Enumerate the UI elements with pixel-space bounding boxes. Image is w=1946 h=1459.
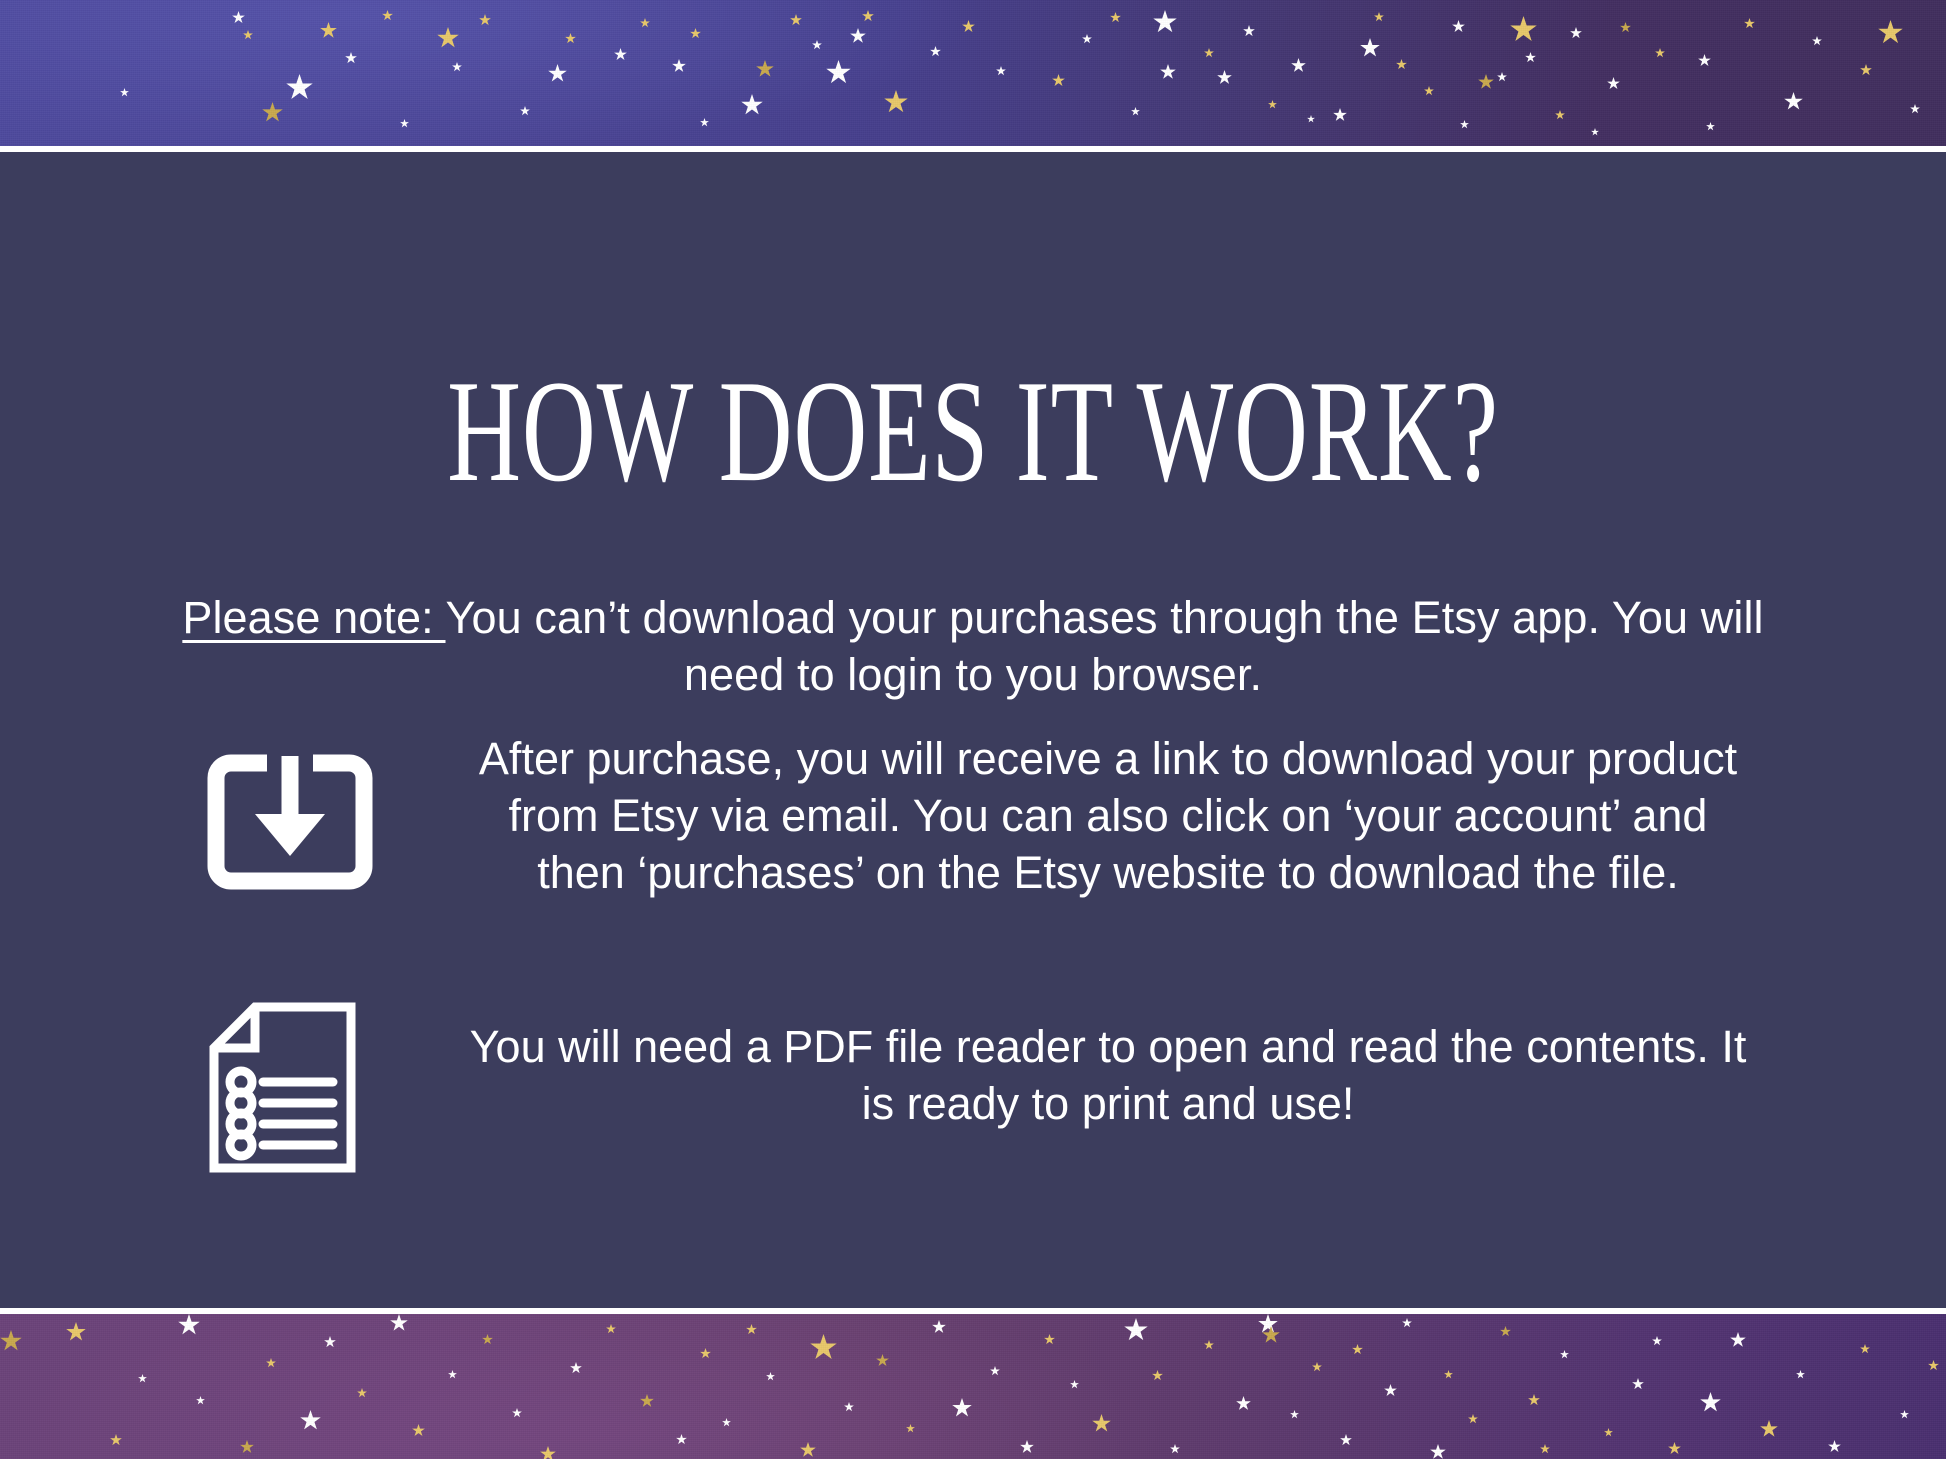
star-icon	[110, 1434, 122, 1446]
star-icon	[1500, 1326, 1511, 1337]
download-icon	[205, 752, 405, 892]
star-icon	[324, 1336, 336, 1348]
star-icon	[1291, 58, 1306, 73]
star-icon	[676, 1434, 687, 1445]
star-icon	[990, 1366, 1000, 1376]
info-row-pdf: You will need a PDF file reader to open …	[205, 990, 1765, 1175]
star-icon	[1784, 92, 1803, 111]
star-icon	[850, 28, 866, 44]
star-icon	[1333, 108, 1347, 122]
please-note-paragraph: Please note: You can’t download your pur…	[160, 589, 1786, 703]
star-icon	[1632, 1378, 1644, 1390]
star-icon	[1910, 104, 1920, 114]
star-icon	[1525, 52, 1536, 63]
star-icon	[1620, 22, 1631, 33]
star-icon	[741, 94, 763, 116]
star-icon	[1044, 1334, 1055, 1345]
star-icon	[1396, 59, 1407, 70]
star-icon	[1698, 54, 1711, 67]
star-icon	[690, 28, 701, 39]
star-icon	[1860, 64, 1872, 76]
star-icon	[1236, 1396, 1251, 1411]
star-icon	[565, 33, 576, 44]
star-icon	[390, 1314, 408, 1332]
star-icon	[1082, 34, 1092, 44]
star-icon	[766, 1372, 775, 1381]
star-icon	[1497, 72, 1507, 82]
star-icon	[996, 66, 1006, 76]
star-icon	[262, 102, 283, 123]
star-icon	[1402, 1318, 1412, 1328]
star-icon	[700, 1348, 711, 1359]
star-icon	[1444, 1370, 1453, 1379]
star-icon	[1424, 86, 1434, 96]
star-icon	[1360, 38, 1380, 58]
star-border-bottom	[0, 1314, 1946, 1459]
star-icon	[437, 27, 459, 49]
star-icon	[1460, 120, 1469, 129]
star-icon	[884, 90, 908, 114]
star-icon	[876, 1354, 889, 1367]
star-icon	[0, 1330, 22, 1352]
star-icon	[700, 118, 709, 127]
star-icon	[800, 1442, 816, 1458]
star-icon	[1860, 1344, 1870, 1354]
star-icon	[1307, 115, 1315, 123]
star-icon	[1124, 1318, 1148, 1342]
star-icon	[606, 1324, 616, 1334]
star-icon	[1290, 1410, 1299, 1419]
star-icon	[1528, 1394, 1540, 1406]
star-icon	[1560, 1350, 1569, 1359]
star-icon	[1131, 107, 1140, 116]
star-icon	[790, 14, 802, 26]
star-icon	[320, 22, 337, 39]
star-icon	[1204, 1340, 1214, 1350]
star-icon	[266, 1358, 276, 1368]
star-icon	[962, 20, 975, 33]
star-icon	[1374, 12, 1384, 22]
star-icon	[640, 1394, 654, 1408]
star-icon	[1760, 1420, 1778, 1438]
page-title: HOW DOES IT WORK?	[195, 358, 1752, 504]
star-icon	[382, 10, 393, 21]
star-icon	[1468, 1414, 1478, 1424]
star-icon	[746, 1324, 757, 1335]
info-row-pdf-text: You will need a PDF file reader to open …	[463, 1018, 1753, 1132]
star-icon	[862, 10, 874, 22]
star-icon	[138, 1374, 147, 1383]
main-panel: HOW DOES IT WORK? Please note: You can’t…	[0, 152, 1946, 1308]
star-icon	[452, 62, 462, 72]
star-icon	[1352, 1344, 1363, 1355]
star-icon	[1730, 1332, 1746, 1348]
star-icon	[1796, 1370, 1805, 1379]
star-icon	[1706, 122, 1715, 131]
star-icon	[1070, 1380, 1079, 1389]
star-icon	[1900, 1410, 1909, 1419]
star-icon	[400, 119, 409, 128]
please-note-label: Please note:	[182, 592, 445, 643]
star-icon	[120, 88, 129, 97]
star-icon	[1928, 1360, 1939, 1371]
star-icon	[1160, 64, 1176, 80]
star-icon	[906, 1424, 915, 1433]
star-icon	[1570, 27, 1582, 39]
star-icon	[844, 1402, 854, 1412]
star-icon	[614, 48, 627, 61]
star-icon	[1744, 18, 1755, 29]
star-icon	[722, 1418, 731, 1427]
star-icon	[448, 1370, 457, 1379]
star-icon	[243, 30, 253, 40]
star-icon	[1092, 1414, 1111, 1433]
info-row-download: After purchase, you will receive a link …	[205, 730, 1765, 901]
document-list-icon	[205, 1000, 405, 1175]
star-icon	[672, 59, 686, 73]
star-icon	[1243, 25, 1255, 37]
star-icon	[1668, 1442, 1681, 1455]
star-icon	[1384, 1384, 1397, 1397]
star-icon	[540, 1446, 556, 1459]
star-icon	[1700, 1392, 1721, 1413]
star-icon	[810, 1334, 837, 1361]
star-icon	[826, 60, 851, 85]
star-icon	[412, 1424, 425, 1437]
star-icon	[932, 1320, 946, 1334]
star-icon	[1430, 1444, 1446, 1459]
star-icon	[1652, 1336, 1662, 1346]
slide-how-does-it-work: HOW DOES IT WORK? Please note: You can’t…	[0, 0, 1946, 1459]
star-icon	[1268, 100, 1277, 109]
star-icon	[1020, 1440, 1034, 1454]
star-icon	[570, 1362, 582, 1374]
star-icon	[357, 1388, 367, 1398]
star-icon	[1170, 1444, 1180, 1454]
star-icon	[300, 1410, 321, 1431]
star-icon	[1478, 74, 1494, 90]
star-icon	[812, 40, 822, 50]
star-icon	[1152, 1370, 1163, 1381]
star-icon	[1555, 110, 1565, 120]
info-row-download-text: After purchase, you will receive a link …	[463, 730, 1753, 901]
star-icon	[240, 1440, 254, 1454]
star-icon	[1812, 36, 1822, 46]
star-icon	[1258, 1314, 1278, 1334]
star-icon	[512, 1408, 522, 1418]
star-icon	[1217, 70, 1232, 85]
star-icon	[1878, 20, 1903, 45]
star-icon	[196, 1396, 205, 1405]
star-icon	[1153, 10, 1177, 34]
star-icon	[1540, 1444, 1550, 1454]
star-icon	[520, 106, 530, 116]
star-icon	[756, 60, 774, 78]
star-icon	[640, 18, 650, 28]
star-icon	[178, 1314, 200, 1336]
star-icon	[345, 52, 357, 64]
star-icon	[1340, 1434, 1352, 1446]
star-icon	[1607, 77, 1620, 90]
star-icon	[1510, 16, 1537, 43]
please-note-body: You can’t download your purchases throug…	[446, 592, 1764, 700]
star-icon	[1655, 48, 1665, 58]
star-icon	[479, 14, 491, 26]
star-icon	[1604, 1428, 1613, 1437]
star-icon	[1204, 48, 1214, 58]
star-icon	[952, 1398, 972, 1418]
star-icon	[1110, 12, 1121, 23]
star-icon	[1828, 1440, 1841, 1453]
star-icon	[482, 1334, 493, 1345]
star-icon	[1312, 1362, 1322, 1372]
star-icon	[1452, 20, 1465, 33]
star-icon	[286, 74, 313, 101]
star-icon	[1052, 74, 1065, 87]
star-icon	[548, 64, 567, 83]
star-border-top	[0, 0, 1946, 146]
star-icon	[232, 11, 245, 24]
star-icon	[930, 46, 941, 57]
star-icon	[66, 1322, 86, 1342]
star-icon	[1591, 128, 1599, 136]
